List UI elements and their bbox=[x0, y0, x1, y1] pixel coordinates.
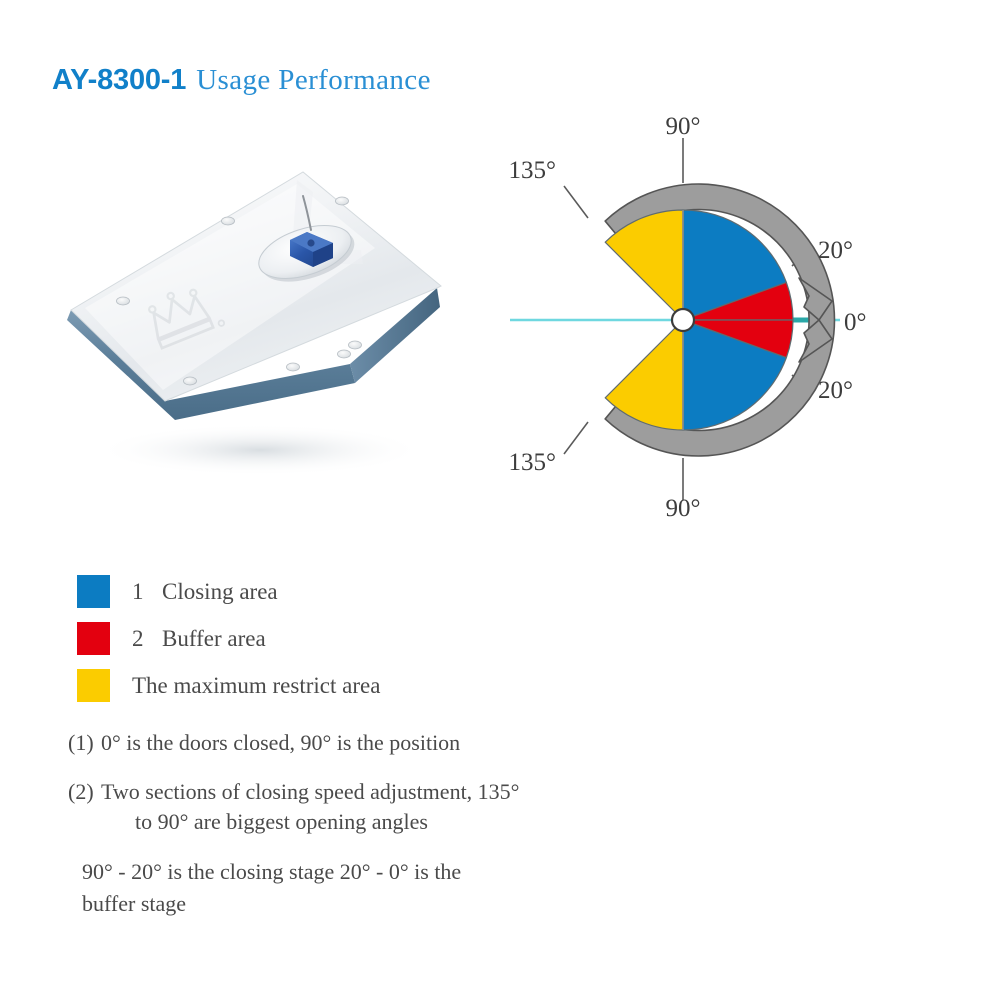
legend-item-buffer-area: 2 Buffer area bbox=[77, 615, 380, 662]
note-2-body: Two sections of closing speed adjustment… bbox=[101, 777, 768, 836]
note-1-text: 0° is the doors closed, 90° is the posit… bbox=[101, 728, 768, 757]
product-image bbox=[45, 168, 465, 488]
note-1-marker: (1) bbox=[68, 728, 101, 757]
legend-label-closing-area: Closing area bbox=[162, 579, 278, 605]
notes-block: (1) 0° is the doors closed, 90° is the p… bbox=[68, 728, 768, 920]
label-20-top: 20° bbox=[818, 237, 853, 264]
pivot-hub bbox=[672, 309, 694, 331]
note-2-text-continued: to 90° are biggest opening angles bbox=[101, 807, 768, 836]
legend-index-1: 1 bbox=[132, 579, 162, 605]
label-20-bottom: 20° bbox=[818, 377, 853, 404]
legend-swatch-red bbox=[77, 622, 110, 655]
note-3: 90° - 20° is the closing stage 20° - 0° … bbox=[68, 856, 768, 920]
leader-135-bottom bbox=[564, 422, 588, 454]
spindle-collar bbox=[323, 417, 327, 419]
leader-135-top bbox=[564, 186, 588, 218]
legend-item-max-restrict-area: The maximum restrict area bbox=[77, 662, 380, 709]
legend-swatch-yellow bbox=[77, 669, 110, 702]
label-0-degree: 0° bbox=[844, 309, 867, 336]
legend-index-2: 2 bbox=[132, 626, 162, 652]
legend-swatch-blue bbox=[77, 575, 110, 608]
legend-label-buffer-area: Buffer area bbox=[162, 626, 266, 652]
note-2-text: Two sections of closing speed adjustment… bbox=[101, 779, 519, 804]
product-shadow bbox=[95, 424, 425, 476]
angle-range-diagram: 90° 135° 20° 0° 20° 135° 90° bbox=[510, 108, 950, 528]
label-90-top: 90° bbox=[666, 113, 701, 140]
legend-item-closing-area: 1 Closing area bbox=[77, 568, 380, 615]
label-90-bottom: 90° bbox=[666, 495, 701, 522]
note-2-marker: (2) bbox=[68, 777, 101, 836]
note-2: (2) Two sections of closing speed adjust… bbox=[68, 777, 768, 836]
label-135-top: 135° bbox=[510, 157, 556, 184]
page-title-text: Usage Performance bbox=[196, 64, 431, 97]
note-3-line-1: 90° - 20° is the closing stage 20° - 0° … bbox=[82, 856, 768, 888]
label-135-bottom: 135° bbox=[510, 449, 556, 476]
legend: 1 Closing area 2 Buffer area The maximum… bbox=[77, 568, 380, 709]
legend-label-max-restrict-area: The maximum restrict area bbox=[132, 673, 380, 699]
page-title: AY-8300-1 Usage Performance bbox=[52, 64, 431, 97]
note-3-line-2: buffer stage bbox=[82, 888, 768, 920]
page-root: AY-8300-1 Usage Performance bbox=[0, 0, 1000, 1000]
note-1: (1) 0° is the doors closed, 90° is the p… bbox=[68, 728, 768, 757]
product-code: AY-8300-1 bbox=[52, 64, 186, 97]
